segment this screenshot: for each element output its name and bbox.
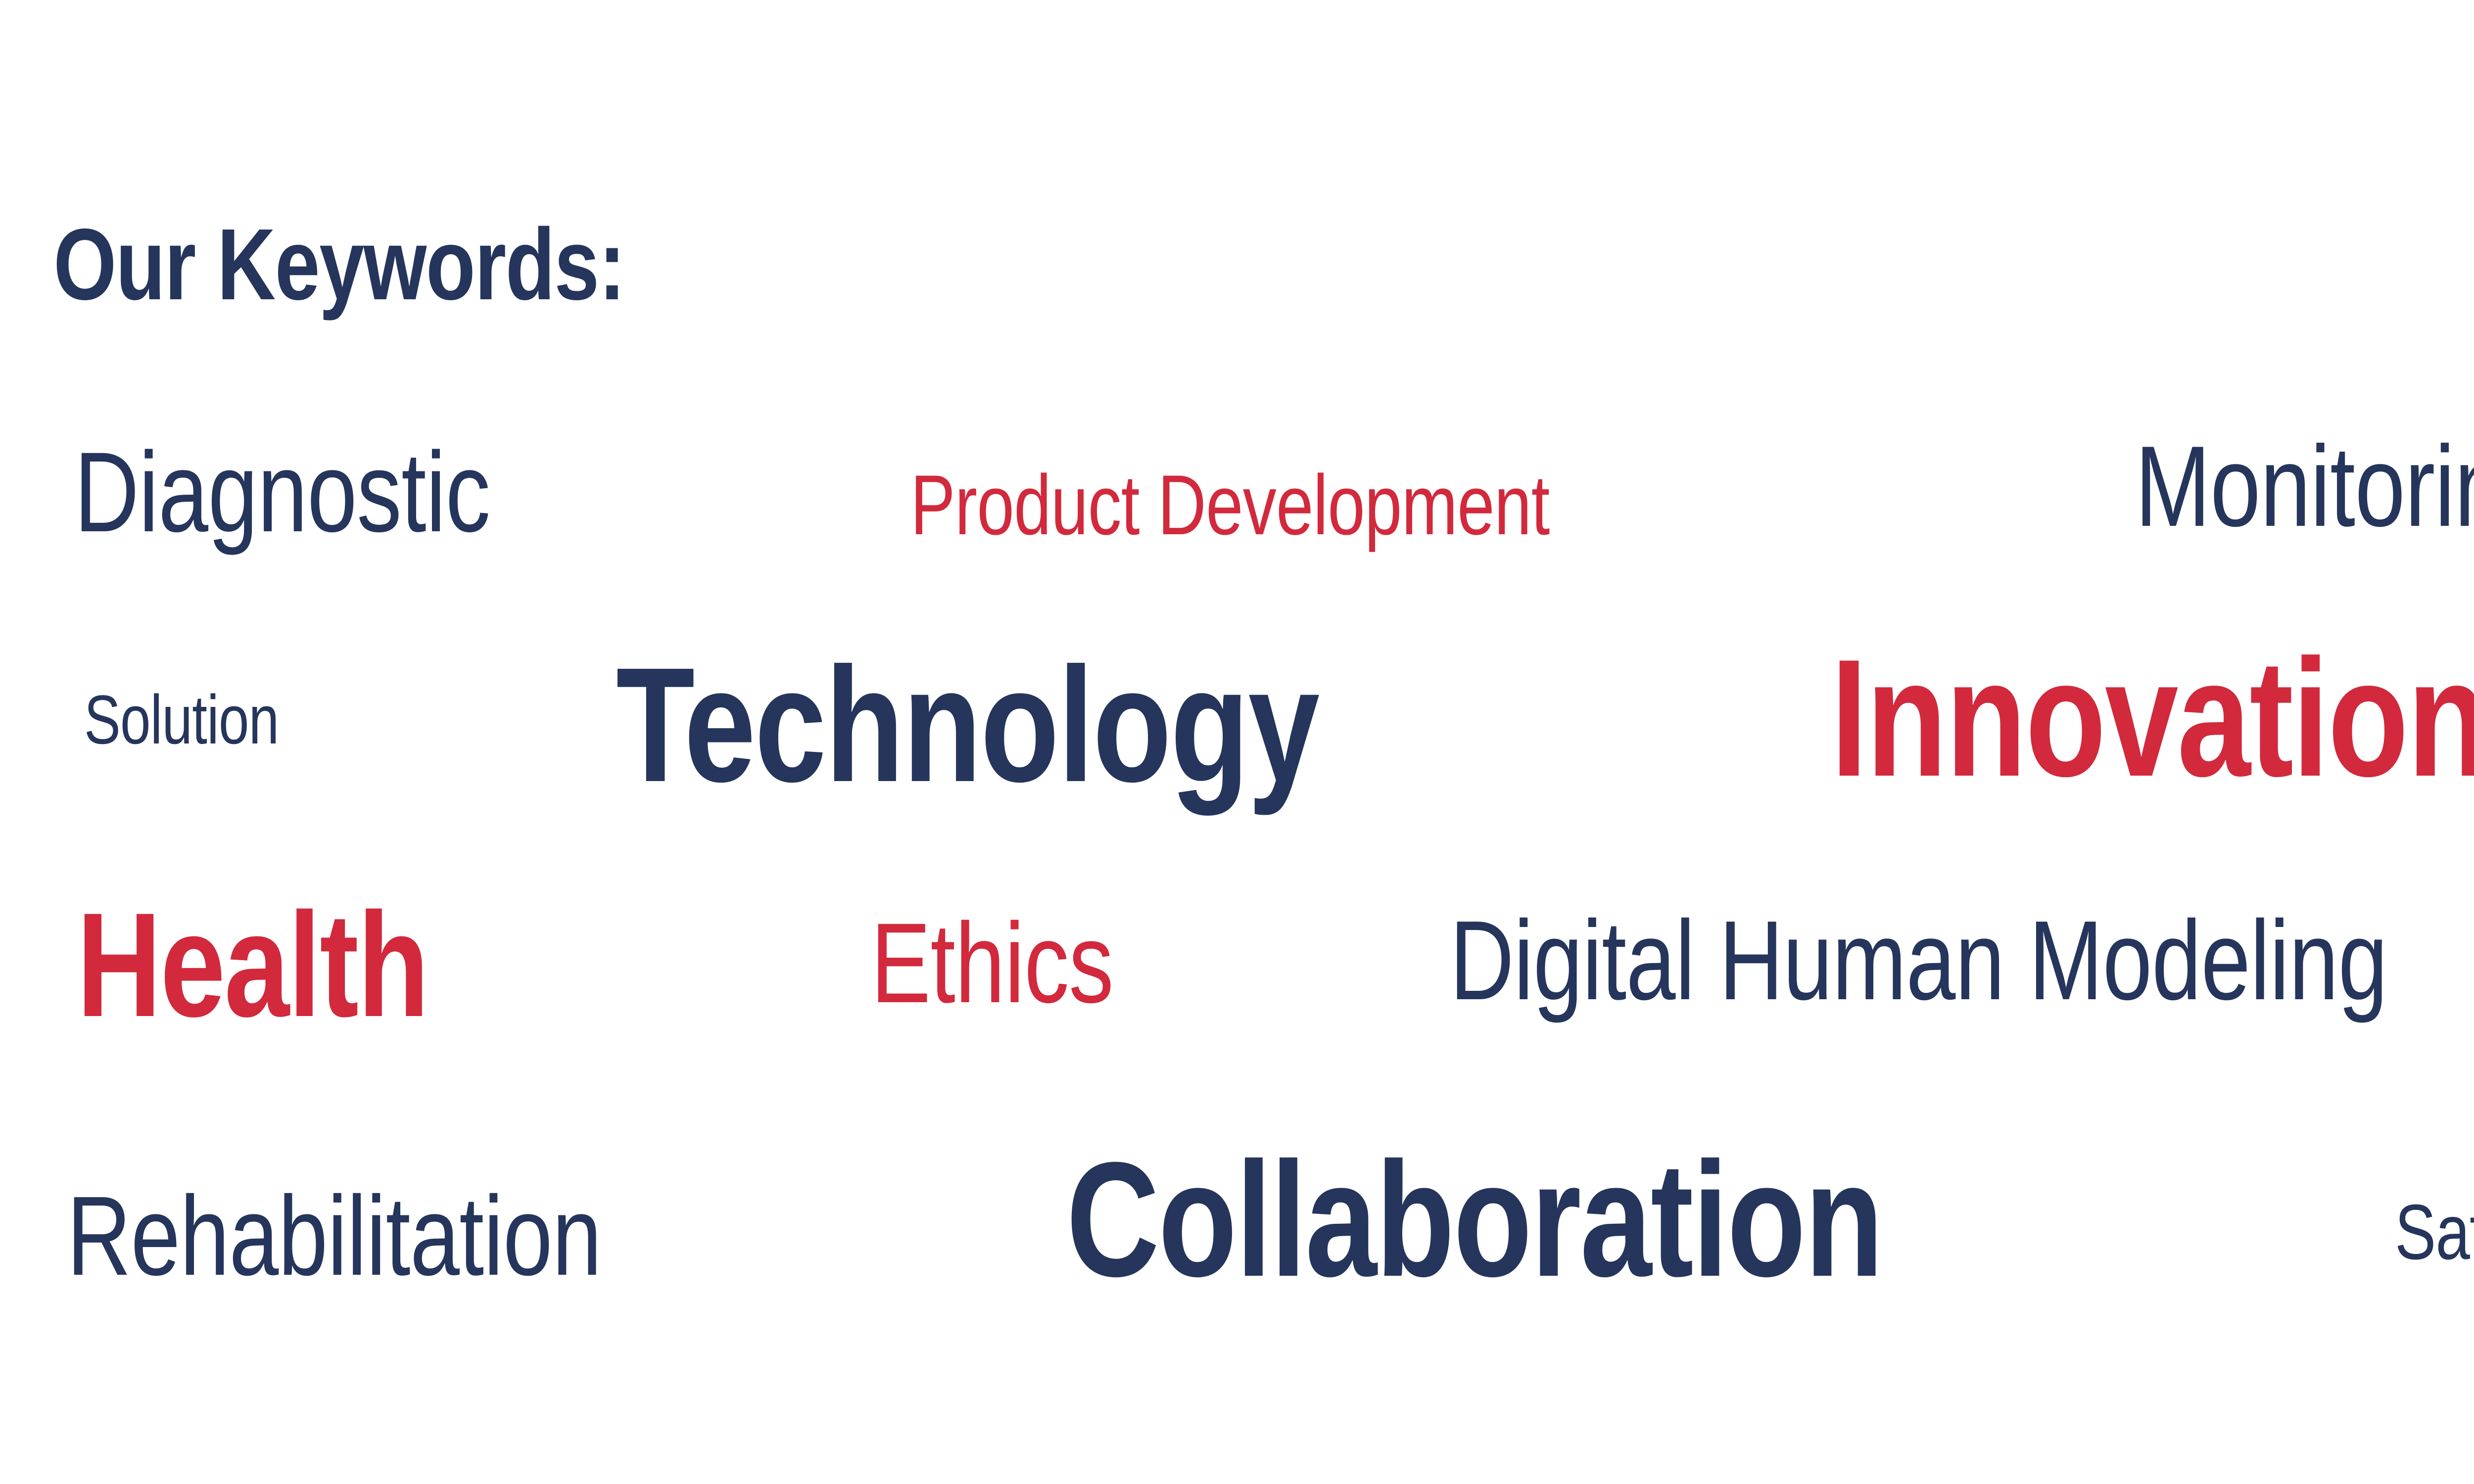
keyword-technology[interactable]: Technology [616,643,1319,806]
keyword-health[interactable]: Health [77,890,428,1039]
keyword-innovation[interactable]: Innovation [1831,634,2474,801]
keyword-collaboration[interactable]: Collaboration [1066,1138,1882,1301]
keyword-product-development[interactable]: Product Development [910,463,1550,548]
keyword-safety[interactable]: Safety [2395,1193,2474,1271]
keyword-diagnostic[interactable]: Diagnostic [74,435,490,549]
keyword-solution[interactable]: Solution [84,685,279,754]
keyword-rehabilitation[interactable]: Rehabilitation [67,1180,601,1293]
keyword-ethics[interactable]: Ethics [871,906,1113,1020]
keyword-monitoring[interactable]: Monitoring [2135,429,2474,544]
word-cloud-canvas: Our Keywords: Diagnostic Product Develop… [0,0,2474,1484]
keyword-digital-human-modeling[interactable]: Digital Human Modeling [1450,904,2387,1017]
page-title: Our Keywords: [53,214,625,315]
